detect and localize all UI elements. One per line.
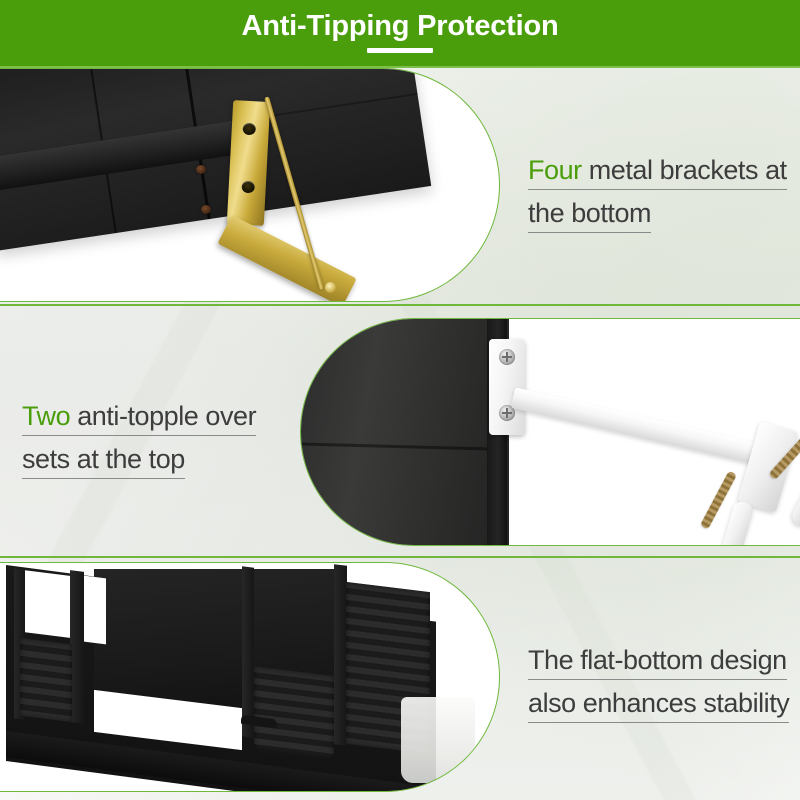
slat-panel: [20, 638, 72, 722]
window-opening: [24, 570, 70, 638]
panel-brackets-image: [0, 68, 500, 302]
cabinet-base-art: [0, 563, 499, 791]
panel-brackets-caption: Four metal brackets at the bottom: [528, 152, 787, 238]
strap-mount-plate: [489, 339, 525, 435]
page-title: Anti-Tipping Protection: [0, 9, 800, 43]
section-divider-1: [0, 304, 800, 306]
brass-bracket-foot: [217, 215, 356, 302]
caption-line-1: Four metal brackets at: [528, 152, 787, 190]
corner-post: [70, 570, 84, 724]
wood-screw-icon: [201, 205, 211, 214]
corner-post: [242, 566, 254, 737]
brace-rod-tip: [325, 282, 336, 293]
panel-anti-topple-caption: Two anti-topple over sets at the top: [22, 398, 256, 484]
mount-screw-icon: [499, 349, 515, 365]
panel-flat-bottom-image: [0, 562, 500, 792]
caption-line-1-rest: metal brackets at: [582, 155, 787, 185]
caption-line-2: sets at the top: [22, 441, 185, 479]
wall-anchor: [715, 500, 755, 546]
panel-flat-bottom-caption: The flat-bottom design also enhances sta…: [528, 642, 789, 728]
wood-screw-icon: [196, 165, 206, 174]
section-divider-2: [0, 556, 800, 558]
caption-line-1-rest: The flat-bottom design: [528, 645, 787, 675]
wall-anchor: [789, 455, 800, 530]
infographic-page: Anti-Tipping Protection Four metal brack…: [0, 0, 800, 800]
anti-tip-strap: [511, 387, 771, 466]
header-banner: Anti-Tipping Protection: [0, 0, 800, 66]
caption-line-1-rest: anti-topple over: [70, 401, 256, 431]
caption-line-1: Two anti-topple over: [22, 398, 256, 436]
strap-anchor-block: [737, 421, 799, 513]
caption-line-2: the bottom: [528, 195, 651, 233]
caption-accent-word: Two: [22, 401, 70, 431]
panel-anti-topple-image: [300, 318, 800, 546]
slat-panel: [254, 666, 334, 760]
title-underline-accent: [367, 48, 433, 53]
window-opening: [84, 576, 106, 645]
header-bottom-edge: [0, 66, 800, 68]
planter-pot: [401, 697, 475, 783]
brass-bracket-vertical: [227, 100, 270, 226]
cabinet-side-panel: [301, 319, 509, 545]
caption-line-2: also enhances stability: [528, 685, 789, 723]
caption-accent-word: Four: [528, 155, 582, 185]
caption-line-1: The flat-bottom design: [528, 642, 787, 680]
